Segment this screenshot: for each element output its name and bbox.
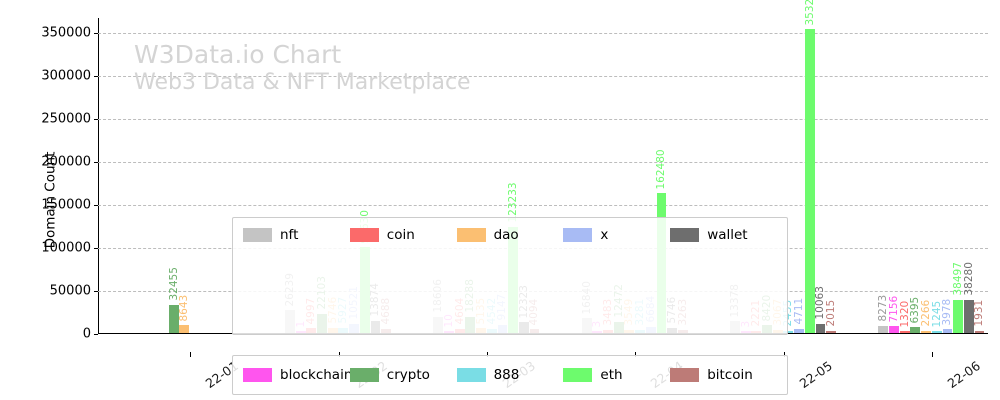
bar-value-label: 4711: [794, 298, 805, 325]
bar-value-label: 2266: [921, 300, 932, 327]
legend-item-dao[interactable]: dao: [457, 227, 564, 243]
bar-value-label: 3978: [942, 298, 953, 325]
bar-value-label: 1931: [974, 300, 985, 327]
legend-label: wallet: [707, 227, 747, 243]
y-tick-mark: [94, 334, 98, 335]
bar-value-label: 7156: [889, 296, 900, 323]
y-tick-mark: [94, 248, 98, 249]
legend-swatch-icon: [457, 228, 486, 242]
legend-swatch-icon: [670, 368, 699, 382]
legend-row-bottom: blockchaincrypto888ethbitcoin: [233, 367, 787, 383]
legend-swatch-icon: [243, 368, 272, 382]
legend-label: x: [600, 227, 608, 243]
legend-swatch-icon: [563, 368, 592, 382]
legend-item-888[interactable]: 888: [457, 367, 564, 383]
y-tick-label: 200000: [41, 155, 91, 170]
y-tick-label: 50000: [50, 284, 91, 299]
x-tick-mark: [932, 352, 933, 357]
y-tick-label: 250000: [41, 112, 91, 127]
y-tick-label: 150000: [41, 198, 91, 213]
bar-value-label: 353282: [805, 0, 816, 25]
bar-value-label: 162480: [656, 149, 667, 189]
legend-item-blockchain[interactable]: blockchain: [243, 367, 350, 383]
bar-value-label: 8643: [179, 294, 190, 321]
legend-item-nft[interactable]: nft: [243, 227, 350, 243]
bar-group: 324558643: [137, 19, 244, 333]
legend-panel-top[interactable]: nftcoindaoxwallet: [232, 217, 788, 335]
y-tick-label: 300000: [41, 69, 91, 84]
legend-label: 888: [494, 367, 520, 383]
bar-group: 8273715613206395226612453978384973828019…: [878, 19, 985, 333]
bar-bitcoin-22-05[interactable]: 2015: [826, 331, 836, 333]
legend-label: eth: [600, 367, 622, 383]
y-tick-mark: [94, 119, 98, 120]
legend-label: blockchain: [280, 367, 352, 383]
bar-value-label: 2015: [826, 300, 837, 327]
legend-item-bitcoin[interactable]: bitcoin: [670, 367, 777, 383]
y-tick-mark: [94, 205, 98, 206]
bar-dao-22-01[interactable]: 8643: [179, 325, 189, 332]
bar-x-22-06[interactable]: 3978: [943, 329, 953, 332]
legend-label: nft: [280, 227, 298, 243]
legend-swatch-icon: [350, 368, 379, 382]
legend-item-wallet[interactable]: wallet: [670, 227, 777, 243]
bar-value-label: 38497: [953, 262, 964, 295]
legend-label: coin: [387, 227, 415, 243]
legend-item-coin[interactable]: coin: [350, 227, 457, 243]
y-tick-mark: [94, 76, 98, 77]
y-tick-label: 100000: [41, 241, 91, 256]
x-tick-label-22-05: 22-05: [796, 358, 834, 391]
legend-row-top: nftcoindaoxwallet: [233, 227, 787, 243]
legend-label: crypto: [387, 367, 430, 383]
y-tick-label: 0: [83, 327, 91, 342]
legend-swatch-icon: [243, 228, 272, 242]
bar-bitcoin-22-06[interactable]: 1931: [975, 331, 985, 333]
y-axis-spine: [98, 18, 99, 334]
legend-item-eth[interactable]: eth: [563, 367, 670, 383]
legend-item-crypto[interactable]: crypto: [350, 367, 457, 383]
x-tick-mark: [190, 352, 191, 357]
legend-swatch-icon: [563, 228, 592, 242]
chart-root: Domain Count 050000100000150000200000250…: [0, 0, 1000, 400]
bar-eth-22-06[interactable]: 38497: [953, 300, 963, 333]
bar-nft-22-06[interactable]: 8273: [878, 326, 888, 333]
bar-crypto-22-06[interactable]: 6395: [910, 327, 920, 332]
bar-coin-22-06[interactable]: 1320: [900, 331, 910, 332]
y-tick-mark: [94, 291, 98, 292]
legend-label: bitcoin: [707, 367, 753, 383]
bar-dao-22-06[interactable]: 2266: [921, 331, 931, 333]
y-tick-mark: [94, 33, 98, 34]
y-tick-mark: [94, 162, 98, 163]
legend-panel-bottom[interactable]: blockchaincrypto888ethbitcoin: [232, 355, 788, 395]
bar-888-22-06[interactable]: 1245: [932, 331, 942, 332]
bar-x-22-05[interactable]: 4711: [794, 329, 804, 333]
bar-value-label: 38280: [964, 262, 975, 295]
x-tick-label-22-06: 22-06: [944, 358, 982, 391]
legend-label: dao: [494, 227, 519, 243]
y-tick-label: 350000: [41, 26, 91, 41]
legend-swatch-icon: [670, 228, 699, 242]
legend-item-x[interactable]: x: [563, 227, 670, 243]
legend-swatch-icon: [457, 368, 486, 382]
legend-swatch-icon: [350, 228, 379, 242]
bar-blockchain-22-06[interactable]: 7156: [889, 326, 899, 332]
